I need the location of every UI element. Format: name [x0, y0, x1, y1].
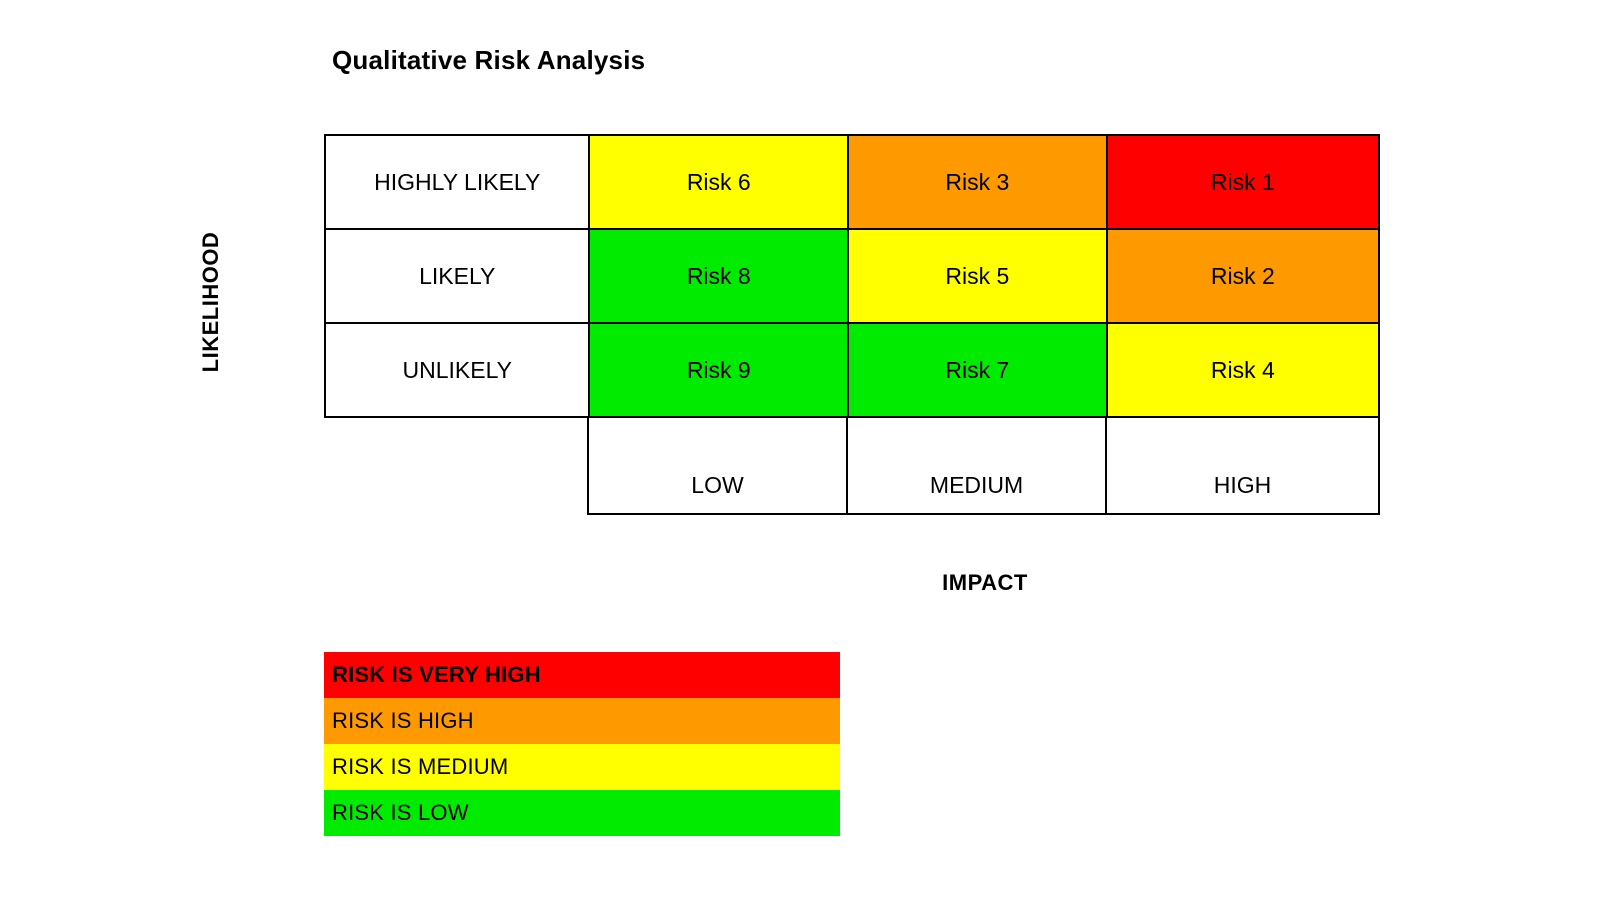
matrix-footer-row: LOW MEDIUM HIGH [324, 416, 1378, 513]
legend-item-very-high: RISK IS VERY HIGH [324, 652, 840, 698]
row-header-highly-likely: HIGHLY LIKELY [324, 134, 590, 230]
matrix-footer-spacer [324, 416, 589, 515]
matrix-cell-risk-7[interactable]: Risk 7 [847, 322, 1108, 418]
row-header-unlikely: UNLIKELY [324, 322, 590, 418]
column-header-medium: MEDIUM [846, 416, 1107, 515]
matrix-cell-risk-1[interactable]: Risk 1 [1106, 134, 1380, 230]
column-header-high: HIGH [1105, 416, 1380, 515]
likelihood-axis-label: LIKELIHOOD [198, 152, 224, 452]
impact-axis-label: IMPACT [592, 570, 1378, 596]
legend-item-medium: RISK IS MEDIUM [324, 744, 840, 790]
row-header-likely: LIKELY [324, 228, 590, 324]
legend-item-high: RISK IS HIGH [324, 698, 840, 744]
matrix-cell-risk-6[interactable]: Risk 6 [588, 134, 849, 230]
matrix-cell-risk-4[interactable]: Risk 4 [1106, 322, 1380, 418]
risk-matrix: HIGHLY LIKELY Risk 6 Risk 3 Risk 1 LIKEL… [324, 134, 1378, 513]
matrix-row: UNLIKELY Risk 9 Risk 7 Risk 4 [324, 322, 1378, 416]
matrix-cell-risk-8[interactable]: Risk 8 [588, 228, 849, 324]
matrix-row: LIKELY Risk 8 Risk 5 Risk 2 [324, 228, 1378, 322]
matrix-cell-risk-2[interactable]: Risk 2 [1106, 228, 1380, 324]
matrix-cell-risk-5[interactable]: Risk 5 [847, 228, 1108, 324]
column-header-low: LOW [587, 416, 848, 515]
legend-item-low: RISK IS LOW [324, 790, 840, 836]
matrix-cell-risk-9[interactable]: Risk 9 [588, 322, 849, 418]
matrix-cell-risk-3[interactable]: Risk 3 [847, 134, 1108, 230]
page-title: Qualitative Risk Analysis [332, 45, 645, 76]
risk-legend: RISK IS VERY HIGH RISK IS HIGH RISK IS M… [324, 652, 840, 836]
matrix-row: HIGHLY LIKELY Risk 6 Risk 3 Risk 1 [324, 134, 1378, 228]
